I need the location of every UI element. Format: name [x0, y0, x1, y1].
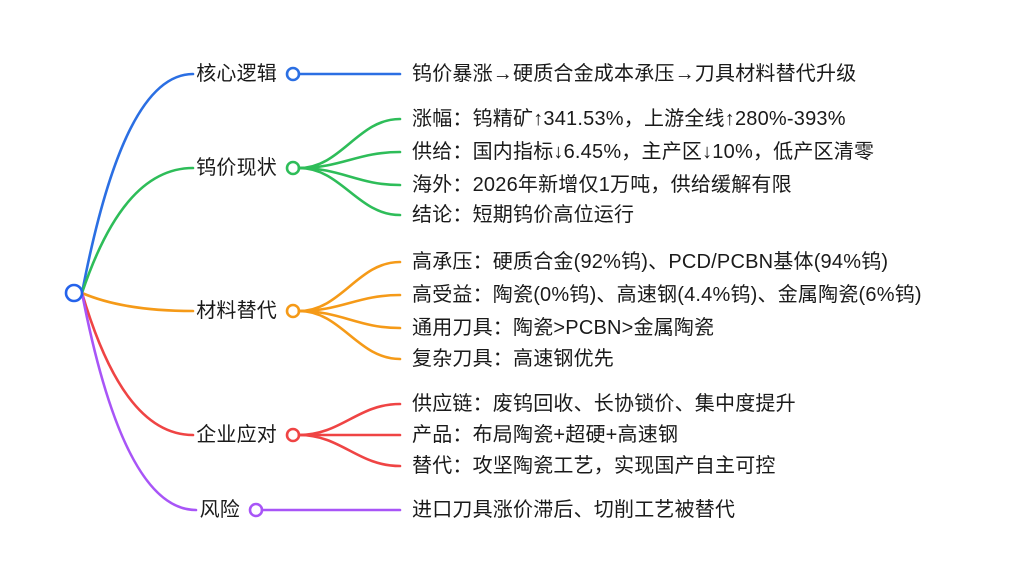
branch-label-5: 风险 — [200, 500, 240, 520]
leaf-label-2-1: 涨幅：钨精矿↑341.53%，上游全线↑280%-393% — [412, 109, 846, 129]
leaf-label-2-2: 供给：国内指标↓6.45%，主产区↓10%，低产区清零 — [412, 142, 874, 162]
leaf-label-1-1: 钨价暴涨→硬质合金成本承压→刀具材料替代升级 — [412, 64, 856, 84]
leaf-label-3-3: 通用刀具：陶瓷>PCBN>金属陶瓷 — [412, 318, 714, 338]
branch-node-5[interactable] — [250, 504, 262, 516]
branch-label-2: 钨价现状 — [196, 158, 277, 178]
branch-node-3[interactable] — [287, 305, 299, 317]
leaf-label-2-4: 结论：短期钨价高位运行 — [412, 205, 634, 225]
branch-node-2[interactable] — [287, 162, 299, 174]
root-node[interactable] — [66, 285, 82, 301]
branch-node-1[interactable] — [287, 68, 299, 80]
leaf-label-3-4: 复杂刀具：高速钢优先 — [412, 349, 614, 369]
leaf-edge-2-4 — [299, 168, 400, 215]
branch-label-1: 核心逻辑 — [196, 64, 277, 84]
branch-label-4: 企业应对 — [196, 425, 277, 445]
leaf-edge-4-1 — [299, 404, 400, 435]
branch-label-3: 材料替代 — [196, 301, 277, 321]
leaf-label-4-2: 产品：布局陶瓷+超硬+高速钢 — [412, 425, 678, 445]
leaf-label-4-3: 替代：攻坚陶瓷工艺，实现国产自主可控 — [412, 456, 776, 476]
branch-node-4[interactable] — [287, 429, 299, 441]
trunk-edge-5 — [82, 293, 196, 510]
mindmap-canvas: 核心逻辑钨价暴涨→硬质合金成本承压→刀具材料替代升级钨价现状涨幅：钨精矿↑341… — [0, 0, 1024, 587]
leaf-label-5-1: 进口刀具涨价滞后、切削工艺被替代 — [412, 500, 735, 520]
trunk-edge-1 — [82, 74, 193, 293]
leaf-label-3-2: 高受益：陶瓷(0%钨)、高速钢(4.4%钨)、金属陶瓷(6%钨) — [412, 285, 922, 305]
leaf-edge-4-3 — [299, 435, 400, 466]
leaf-label-4-1: 供应链：废钨回收、长协锁价、集中度提升 — [412, 394, 796, 414]
leaf-label-2-3: 海外：2026年新增仅1万吨，供给缓解有限 — [412, 175, 792, 195]
trunk-edge-3 — [82, 293, 193, 311]
trunk-edge-2 — [82, 168, 193, 293]
leaf-label-3-1: 高承压：硬质合金(92%钨)、PCD/PCBN基体(94%钨) — [412, 252, 888, 272]
